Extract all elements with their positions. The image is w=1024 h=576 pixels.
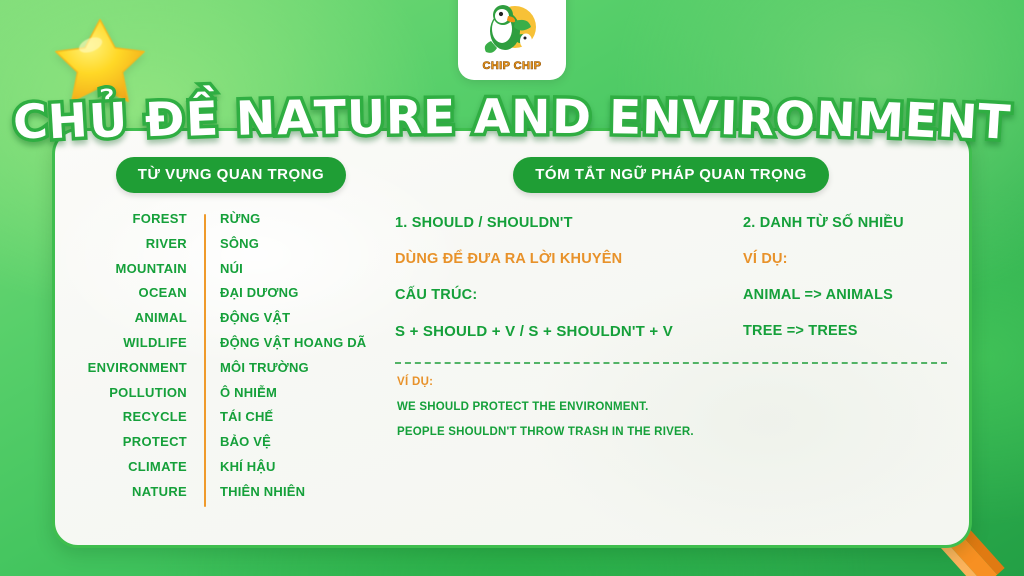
parrot-mascot-icon (475, 1, 549, 59)
grammar-heading: TÓM TẮT NGỮ PHÁP QUAN TRỌNG (513, 157, 829, 193)
vocabulary-row: MOUNTAINNÚI (83, 261, 379, 286)
vocabulary-column-divider (204, 214, 206, 507)
title-glyph: E (423, 90, 457, 145)
vocabulary-term-en: RECYCLE (83, 409, 203, 424)
title-glyph: E (608, 90, 642, 146)
vocabulary-term-en: POLLUTION (83, 385, 203, 400)
content-card: TỪ VỰNG QUAN TRỌNG FORESTRỪNGRIVERSÔNGMO… (52, 128, 972, 548)
title-glyph: T (976, 94, 1012, 151)
title-glyph: I (719, 91, 739, 147)
vocabulary-term-vi: RỪNG (203, 211, 379, 226)
vocabulary-term-en: CLIMATE (83, 459, 203, 474)
vocabulary-term-vi: Ô NHIỄM (203, 385, 379, 400)
vocabulary-row: NATURETHIÊN NHIÊN (83, 484, 379, 509)
grammar-1-structure: S + SHOULD + V / S + SHOULDN'T + V (395, 323, 725, 340)
vocabulary-row: PROTECTBẢO VỆ (83, 434, 379, 459)
vocabulary-term-en: MOUNTAIN (83, 261, 203, 276)
title-glyph: R (737, 91, 776, 147)
vocabulary-heading-wrap: TỪ VỰNG QUAN TRỌNG (77, 157, 385, 193)
page-title-text: CHỦ ĐỀ NATURE AND ENVIRONMENT (13, 92, 1011, 147)
example-sentence: WE SHOULD PROTECT THE ENVIRONMENT. (397, 401, 947, 413)
vocabulary-term-en: ENVIRONMENT (83, 360, 203, 375)
grammar-1-structure-label: CẤU TRÚC: (395, 287, 725, 303)
title-glyph: C (11, 94, 50, 151)
example-sentences-block: VÍ DỤ: WE SHOULD PROTECT THE ENVIRONMENT… (395, 376, 947, 438)
vocabulary-row: RIVERSÔNG (83, 236, 379, 261)
vocabulary-term-en: FOREST (83, 211, 203, 226)
title-glyph: M (855, 92, 905, 149)
title-glyph: U (346, 90, 386, 146)
vocabulary-term-vi: ĐỘNG VẬT HOANG DÃ (203, 335, 379, 350)
example-sentences-list: WE SHOULD PROTECT THE ENVIRONMENT.PEOPLE… (397, 401, 947, 438)
vocabulary-list: FORESTRỪNGRIVERSÔNGMOUNTAINNÚIOCEANĐẠI D… (77, 211, 385, 509)
vocabulary-term-vi: THIÊN NHIÊN (203, 484, 379, 499)
vocabulary-term-en: PROTECT (83, 434, 203, 449)
grammar-1-usage: DÙNG ĐỂ ĐƯA RA LỜI KHUYÊN (395, 251, 725, 267)
title-glyph: A (276, 90, 315, 146)
example-sentence: PEOPLE SHOULDN'T THROW TRASH IN THE RIVE… (397, 426, 947, 438)
example-sentences-label: VÍ DỤ: (397, 376, 947, 388)
title-glyph: N (235, 91, 277, 147)
vocabulary-term-en: WILDLIFE (83, 335, 203, 350)
vocabulary-term-vi: BẢO VỆ (203, 434, 379, 449)
title-glyph: N (511, 90, 552, 145)
title-glyph (591, 90, 609, 145)
vocabulary-row: ANIMALĐỘNG VẬT (83, 310, 379, 335)
vocabulary-term-vi: ĐẠI DƯƠNG (203, 285, 379, 300)
vocabulary-row: OCEANĐẠI DƯƠNG (83, 285, 379, 310)
title-glyph: E (903, 93, 939, 150)
vocabulary-heading: TỪ VỰNG QUAN TRỌNG (116, 157, 346, 193)
vocabulary-row: CLIMATEKHÍ HẬU (83, 459, 379, 484)
grammar-point-1: 1. SHOULD / SHOULDN'T DÙNG ĐỂ ĐƯA RA LỜI… (395, 215, 725, 360)
vocabulary-term-vi: ĐỘNG VẬT (203, 310, 379, 325)
vocabulary-row: WILDLIFEĐỘNG VẬT HOANG DÃ (83, 335, 379, 360)
vocabulary-section: TỪ VỰNG QUAN TRỌNG FORESTRỪNGRIVERSÔNGMO… (55, 157, 385, 545)
vocabulary-term-en: ANIMAL (83, 310, 203, 325)
title-glyph: V (682, 90, 721, 146)
title-glyph: N (641, 90, 683, 146)
vocabulary-term-en: RIVER (83, 236, 203, 251)
grammar-2-title: 2. DANH TỪ SỐ NHIỀU (743, 215, 947, 231)
title-glyph (456, 90, 474, 145)
grammar-2-example-label: VÍ DỤ: (743, 251, 947, 267)
vocabulary-term-vi: MÔI TRƯỜNG (203, 360, 379, 375)
grammar-heading-wrap: TÓM TẮT NGỮ PHÁP QUAN TRỌNG (395, 157, 947, 193)
title-glyph: H (47, 93, 90, 150)
grammar-section: TÓM TẮT NGỮ PHÁP QUAN TRỌNG 1. SHOULD / … (385, 157, 969, 545)
title-glyph: D (551, 90, 591, 145)
title-glyph: N (815, 92, 858, 149)
vocabulary-term-en: NATURE (83, 484, 203, 499)
grammar-point-2: 2. DANH TỪ SỐ NHIỀU VÍ DỤ: ANIMAL => ANI… (743, 215, 947, 360)
title-glyph: Ề (185, 91, 220, 147)
brand-logo: CHIP CHIP (458, 0, 566, 80)
title-glyph: Ủ (87, 93, 129, 150)
vocabulary-term-vi: KHÍ HẬU (203, 459, 379, 474)
grammar-2-example-list: ANIMAL => ANIMALSTREE => TREES (743, 287, 947, 339)
vocabulary-row: POLLUTIONÔ NHIỄM (83, 385, 379, 410)
vocabulary-row: FORESTRỪNG (83, 211, 379, 236)
grammar-2-example: ANIMAL => ANIMALS (743, 287, 947, 303)
vocabulary-row: ENVIRONMENTMÔI TRƯỜNG (83, 360, 379, 385)
vocabulary-term-vi: NÚI (203, 261, 379, 276)
page-title: CHỦ ĐỀ NATURE AND ENVIRONMENT (0, 92, 1024, 158)
title-glyph: A (474, 90, 511, 145)
grammar-1-title: 1. SHOULD / SHOULDN'T (395, 215, 725, 231)
grammar-2-example: TREE => TREES (743, 323, 947, 339)
vocabulary-row: RECYCLETÁI CHẾ (83, 409, 379, 434)
title-glyph: R (386, 90, 424, 145)
vocabulary-term-vi: TÁI CHẾ (203, 409, 379, 424)
brand-name: CHIP CHIP (482, 60, 541, 72)
vocabulary-term-en: OCEAN (83, 285, 203, 300)
title-glyph (218, 91, 237, 147)
section-divider (395, 362, 947, 364)
vocabulary-term-vi: SÔNG (203, 236, 379, 251)
title-glyph: T (313, 90, 347, 146)
title-glyph: Đ (144, 92, 187, 149)
title-glyph: O (774, 91, 817, 148)
title-glyph: N (936, 93, 979, 150)
